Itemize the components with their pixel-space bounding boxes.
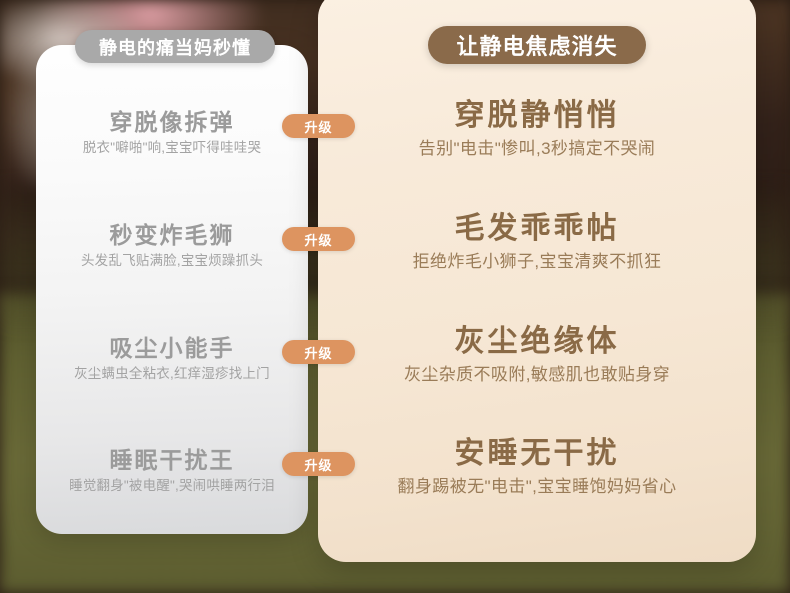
left-item-subtitle: 脱衣"噼啪"响,宝宝吓得哇哇哭 (36, 140, 308, 156)
left-panel-header-label: 静电的痛当妈秒懂 (99, 34, 251, 60)
left-list-item-3: 吸尘小能手 灰尘螨虫全粘衣,红痒湿疹找上门 (36, 336, 308, 382)
right-list-item-1: 穿脱静悄悄 告别"电击"惨叫,3秒搞定不哭闹 (318, 99, 756, 159)
right-panel-header-label: 让静电焦虑消失 (456, 29, 617, 61)
left-item-title: 吸尘小能手 (36, 336, 308, 361)
promo-graphic: 升级 升级 升级 升级 静电的痛当妈秒懂 穿脱像拆弹 脱衣"噼啪"响,宝宝吓得哇… (0, 0, 790, 593)
left-item-title: 穿脱像拆弹 (36, 110, 308, 135)
right-list-item-4: 安睡无干扰 翻身踢被无"电击",宝宝睡饱妈妈省心 (318, 437, 756, 497)
left-list-item-2: 秒变炸毛狮 头发乱飞贴满脸,宝宝烦躁抓头 (36, 223, 308, 269)
right-item-subtitle: 拒绝炸毛小狮子,宝宝清爽不抓狂 (318, 252, 756, 272)
left-item-subtitle: 灰尘螨虫全粘衣,红痒湿疹找上门 (36, 366, 308, 382)
right-item-subtitle: 翻身踢被无"电击",宝宝睡饱妈妈省心 (318, 477, 756, 497)
left-list-item-1: 穿脱像拆弹 脱衣"噼啪"响,宝宝吓得哇哇哭 (36, 110, 308, 156)
left-item-title: 睡眠干扰王 (36, 448, 308, 473)
left-panel-header-pill: 静电的痛当妈秒懂 (75, 30, 275, 63)
right-item-title: 安睡无干扰 (318, 437, 756, 471)
right-panel-header-pill: 让静电焦虑消失 (428, 26, 646, 64)
left-item-title: 秒变炸毛狮 (36, 223, 308, 248)
right-item-subtitle: 告别"电击"惨叫,3秒搞定不哭闹 (318, 139, 756, 159)
left-item-subtitle: 睡觉翻身"被电醒",哭闹哄睡两行泪 (36, 478, 308, 494)
right-item-title: 毛发乖乖帖 (318, 212, 756, 246)
right-list-item-3: 灰尘绝缘体 灰尘杂质不吸附,敏感肌也敢贴身穿 (318, 325, 756, 385)
left-list-item-4: 睡眠干扰王 睡觉翻身"被电醒",哭闹哄睡两行泪 (36, 448, 308, 494)
right-list-item-2: 毛发乖乖帖 拒绝炸毛小狮子,宝宝清爽不抓狂 (318, 212, 756, 272)
left-item-subtitle: 头发乱飞贴满脸,宝宝烦躁抓头 (36, 253, 308, 269)
right-item-subtitle: 灰尘杂质不吸附,敏感肌也敢贴身穿 (318, 365, 756, 385)
right-item-title: 灰尘绝缘体 (318, 325, 756, 359)
right-item-title: 穿脱静悄悄 (318, 99, 756, 133)
